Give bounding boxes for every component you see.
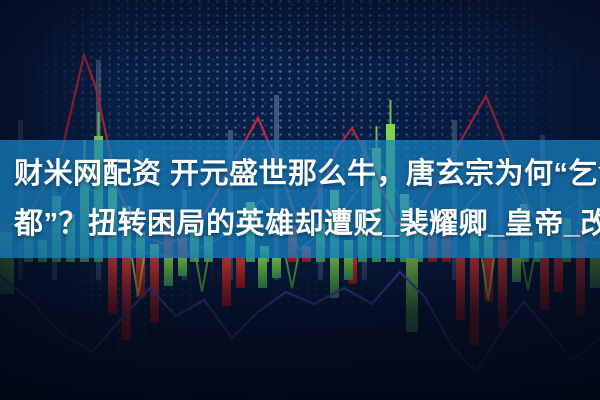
headline-overlay-band: 财米网配资 开元盛世那么牛，唐玄宗为何“乞食东 都”？扭转困局的英雄却遭贬_裴耀… <box>0 140 600 258</box>
thumbnail-image: 财米网配资 开元盛世那么牛，唐玄宗为何“乞食东 都”？扭转困局的英雄却遭贬_裴耀… <box>0 0 600 400</box>
headline-line-1: 财米网配资 开元盛世那么牛，唐玄宗为何“乞食东 <box>14 149 586 199</box>
headline-line-2: 都”？扭转困局的英雄却遭贬_裴耀卿_皇帝_改革 <box>14 199 586 249</box>
